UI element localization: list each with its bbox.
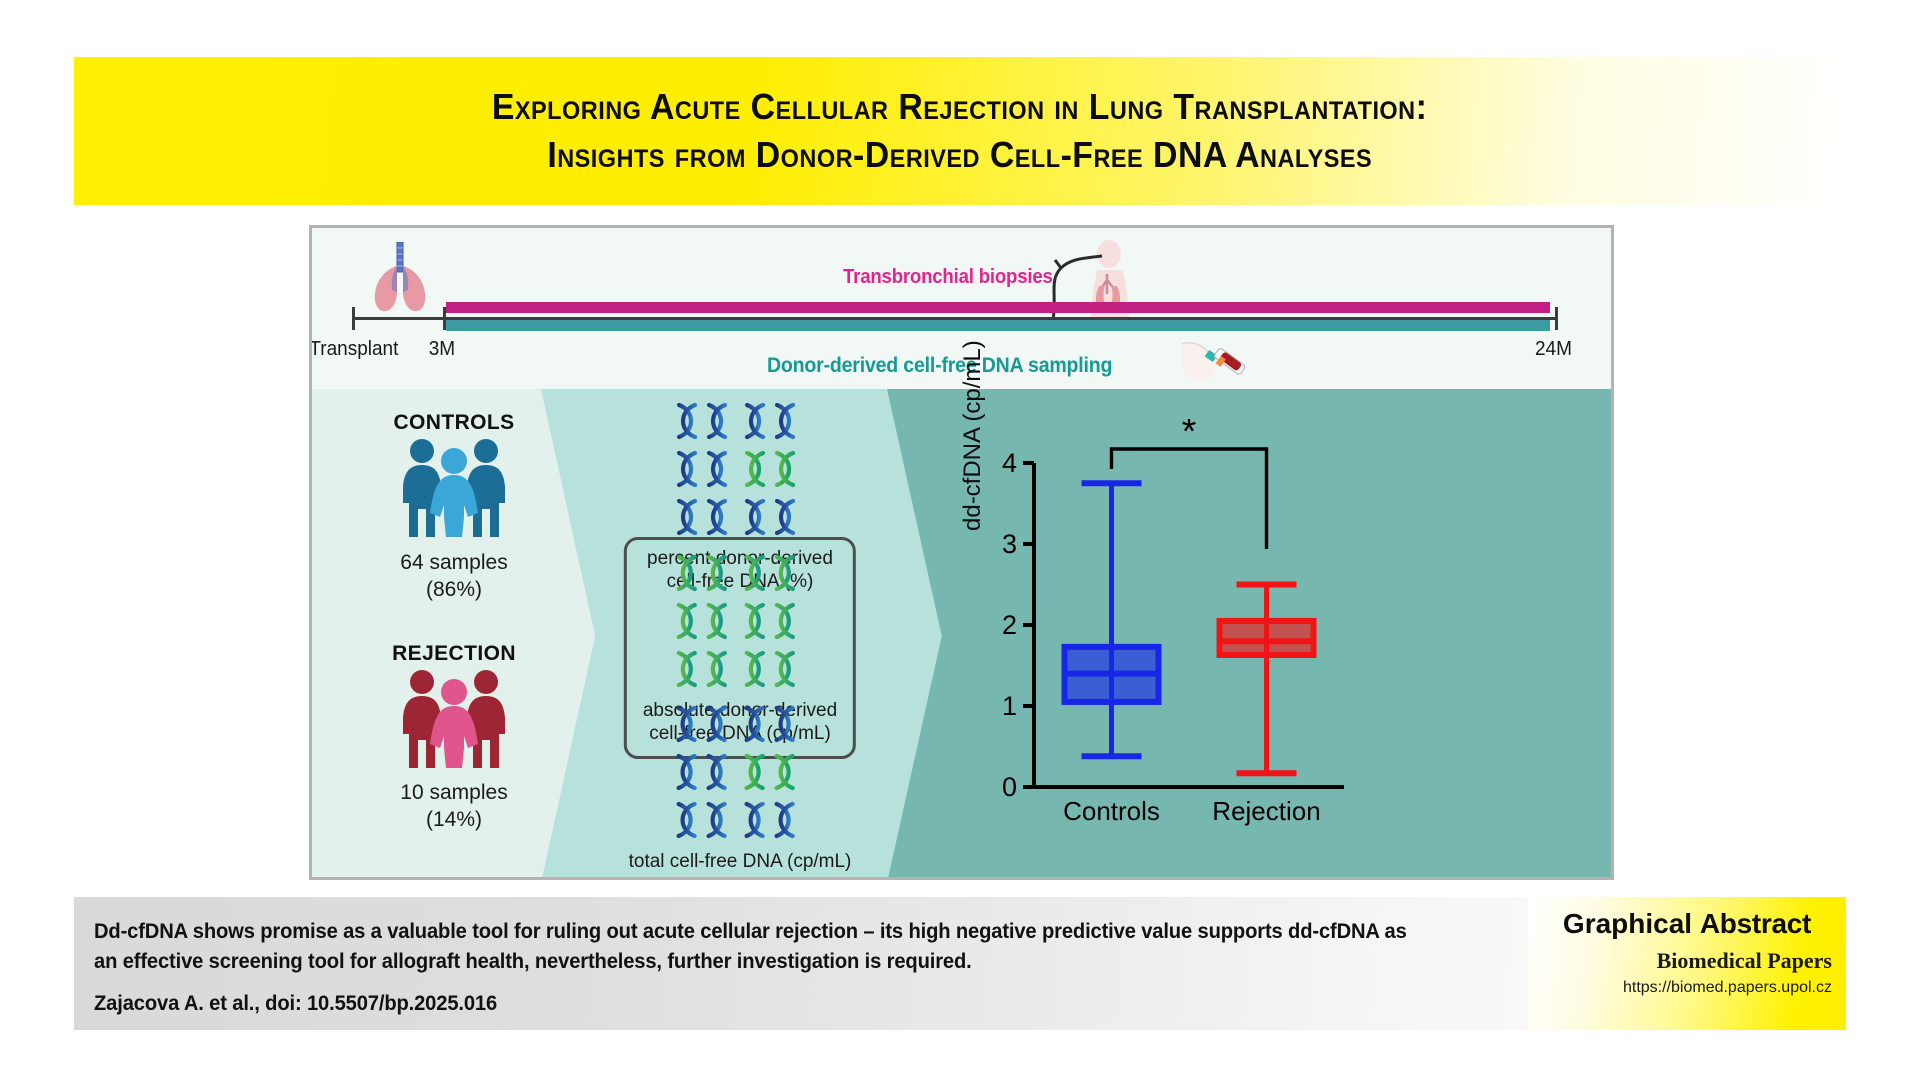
boxplot-svg: 01234ControlsRejection* [972, 419, 1362, 859]
rejection-percent-text: (14%) [426, 808, 482, 831]
dna-helix-icon [675, 401, 737, 446]
controls-count: 64 samples (86%) [400, 549, 507, 604]
dna-grid-percent [647, 401, 833, 542]
dna-helix-icon [675, 553, 737, 598]
rejection-count: 10 samples (14%) [400, 779, 507, 834]
y-tick-label: 2 [1002, 610, 1017, 640]
controls-samples-text: 64 samples [400, 551, 507, 574]
dna-helix-icon [675, 649, 737, 694]
badge-url: https://biomed.papers.upol.cz [1528, 979, 1846, 997]
dna-helix-icon [675, 704, 737, 749]
dna-helix-icon [675, 800, 737, 845]
dna-helix-icon [675, 601, 737, 646]
timeline-label-24m: 24M [1535, 338, 1572, 361]
significance-bracket [1112, 449, 1267, 549]
caption-citation: Zajacova A. et al., doi: 10.5507/bp.2025… [94, 992, 497, 1016]
figure-panel: Transbronchial biopsies Donor-derived ce… [309, 225, 1614, 880]
controls-percent-text: (86%) [426, 578, 482, 601]
badge-title-rest: Abstract [1700, 908, 1811, 939]
dna-grid-absolute [643, 553, 837, 694]
x-tick-label-rejection: Rejection [1212, 796, 1320, 826]
y-tick-label: 4 [1002, 448, 1017, 478]
assay-total-caption: total cell-free DNA (cp/mL) [629, 850, 852, 873]
dna-helix-icon [743, 649, 805, 694]
biopsy-period-bar [446, 302, 1550, 313]
dna-helix-icon [743, 497, 805, 542]
badge-title-bold: Graphical [1563, 908, 1692, 939]
title-line-2: Insights from Donor-Derived Cell-Free DN… [548, 131, 1373, 179]
dna-grid-total [629, 704, 852, 845]
rejection-people-icon [396, 668, 512, 775]
dna-helix-icon [743, 601, 805, 646]
x-tick-label-controls: Controls [1063, 796, 1160, 826]
boxplot-series-controls [1065, 483, 1159, 756]
workflow-panels: CONTROLS 64 samples (86%) REJECTION [312, 389, 1611, 880]
title-line-1: Exploring Acute Cellular Rejection in Lu… [492, 83, 1428, 131]
caption-body-text: Dd-cfDNA shows promise as a valuable too… [94, 917, 1409, 978]
sampling-period-bar [446, 320, 1550, 331]
dna-helix-icon [675, 497, 737, 542]
dna-helix-icon [743, 704, 805, 749]
y-tick-label: 1 [1002, 691, 1017, 721]
lungs-icon [367, 242, 433, 319]
badge-journal: Biomedical Papers [1528, 948, 1846, 974]
group-title-controls: CONTROLS [393, 411, 514, 435]
title-banner: Exploring Acute Cellular Rejection in Lu… [74, 57, 1846, 205]
dna-helix-icon [675, 752, 737, 797]
graphical-abstract-page: Exploring Acute Cellular Rejection in Lu… [0, 0, 1920, 1080]
badge-title: Graphical Abstract [1528, 908, 1846, 940]
transbronchial-biopsies-label: Transbronchial biopsies [843, 266, 1053, 289]
timeline-label-transplant: Transplant [309, 338, 398, 361]
assay-total-cfdna: total cell-free DNA (cp/mL) [629, 704, 852, 873]
controls-people-icon [396, 437, 512, 544]
boxplot-y-axis-label: dd-cfDNA (cp/mL) [959, 340, 987, 531]
dna-helix-icon [743, 800, 805, 845]
y-tick-label: 3 [1002, 529, 1017, 559]
timeline-tick-24m [1555, 307, 1558, 330]
timeline-label-3m: 3M [429, 338, 455, 361]
dna-helix-icon [743, 449, 805, 494]
dna-helix-icon [675, 449, 737, 494]
rejection-samples-text: 10 samples [400, 781, 507, 804]
dna-helix-icon [743, 752, 805, 797]
boxplot-chart: dd-cfDNA (cp/mL) 01234ControlsRejection* [972, 419, 1362, 859]
graphical-abstract-badge: Graphical Abstract Biomedical Papers htt… [1528, 897, 1846, 1030]
boxplot-series-rejection [1220, 585, 1314, 774]
assay-total-caption-l1: total cell-free DNA (cp/mL) [629, 851, 852, 872]
significance-asterisk: * [1182, 419, 1197, 453]
ddcfdna-sampling-label: Donor-derived cell-free DNA sampling [767, 354, 1112, 378]
dna-helix-icon [743, 553, 805, 598]
y-tick-label: 0 [1002, 772, 1017, 802]
group-title-rejection: REJECTION [392, 642, 516, 666]
timeline-tick-transplant [352, 307, 355, 330]
dna-helix-icon [743, 401, 805, 446]
